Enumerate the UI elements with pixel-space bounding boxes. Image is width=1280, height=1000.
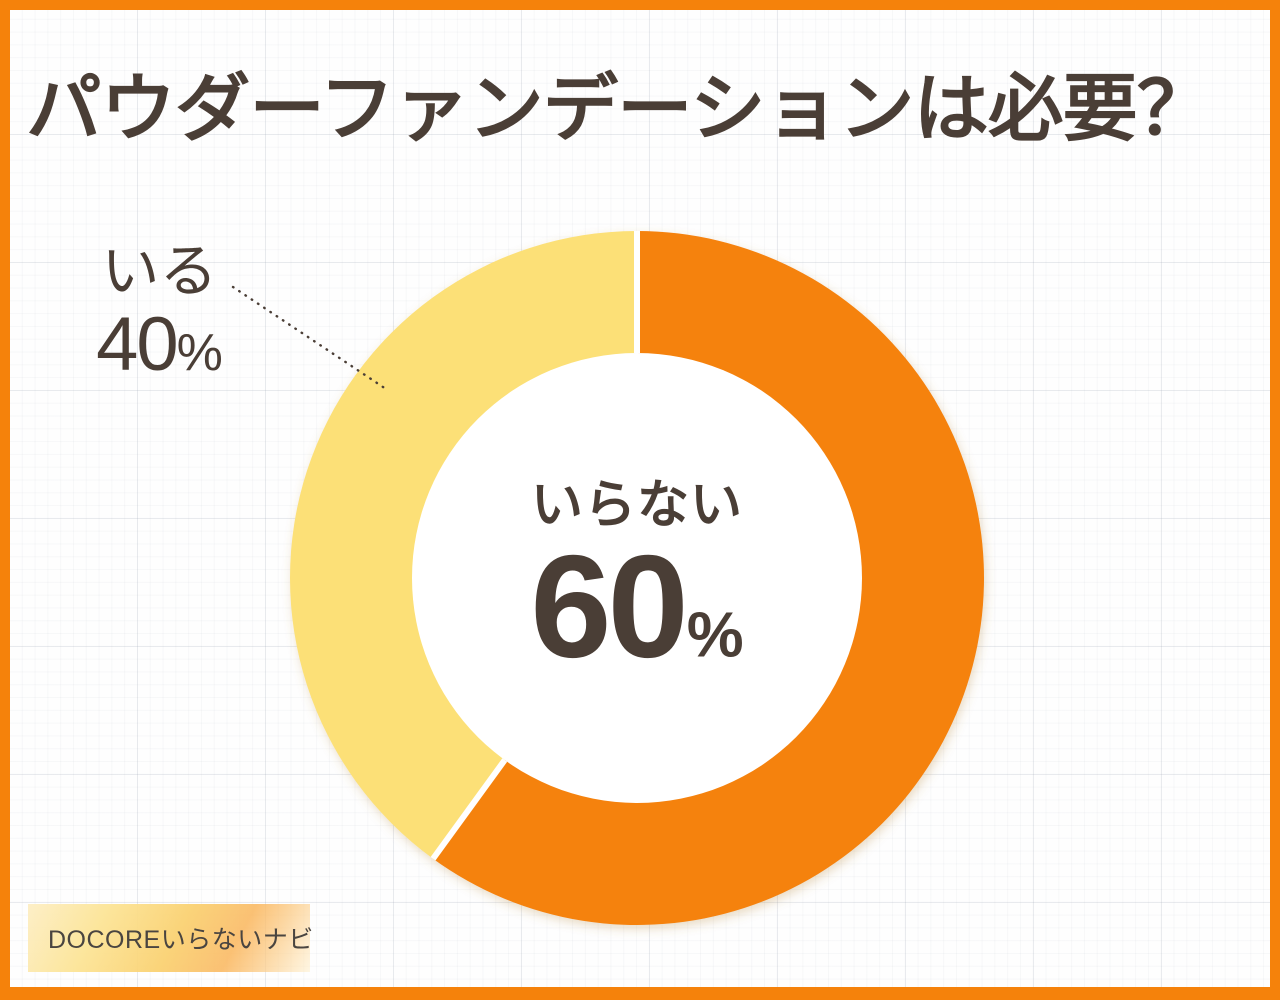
infographic-canvas: パウダーファンデーションは必要？ いらない <box>0 0 1280 1000</box>
site-logo-watermark: DOCOREいらないナビ <box>28 904 310 972</box>
page-title: パウダーファンデーションは必要？ <box>26 70 1280 148</box>
outside-label-unit: % <box>177 327 223 379</box>
donut-chart-svg <box>0 0 1280 1000</box>
donut-hole <box>412 353 862 803</box>
outside-label-number: 40 <box>96 307 177 383</box>
frame-border-bottom <box>0 987 1280 1000</box>
outside-label-value-row: 40 % <box>52 307 267 383</box>
frame-border-top <box>0 0 1280 10</box>
donut-chart <box>0 0 1280 1000</box>
frame-border-left <box>0 0 10 1000</box>
outside-label-word: いる <box>52 242 267 303</box>
outside-label-group: いる 40 % <box>52 242 267 383</box>
frame-border-right <box>1270 0 1280 1000</box>
site-logo-text: DOCOREいらないナビ <box>48 920 314 956</box>
